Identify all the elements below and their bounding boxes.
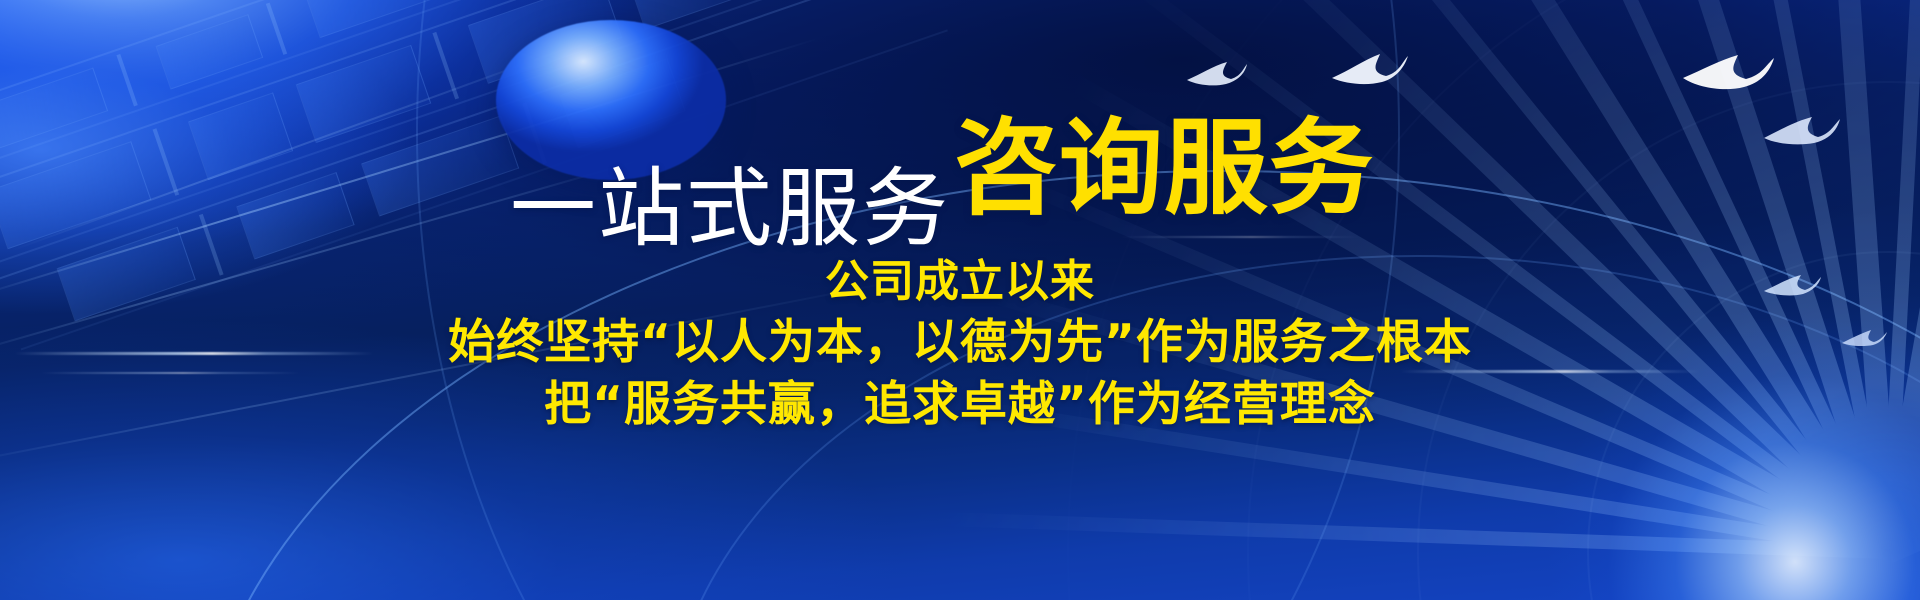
seagull-icon bbox=[1185, 58, 1275, 92]
seagull-icon bbox=[1840, 328, 1904, 352]
light-streak bbox=[1120, 236, 1360, 238]
light-streak bbox=[1400, 370, 1700, 373]
seagull-icon bbox=[1330, 48, 1450, 94]
seagull-icon bbox=[1680, 52, 1810, 100]
light-streak bbox=[40, 372, 300, 374]
blue-sphere-decoration bbox=[496, 20, 726, 180]
light-streak bbox=[14, 352, 374, 355]
seagull-icon bbox=[1762, 272, 1844, 302]
seagull-icon bbox=[1762, 112, 1862, 152]
promo-banner: 一站式服务 咨询服务 公司成立以来 始终坚持“以人为本，以德为先”作为服务之根本… bbox=[0, 0, 1920, 600]
